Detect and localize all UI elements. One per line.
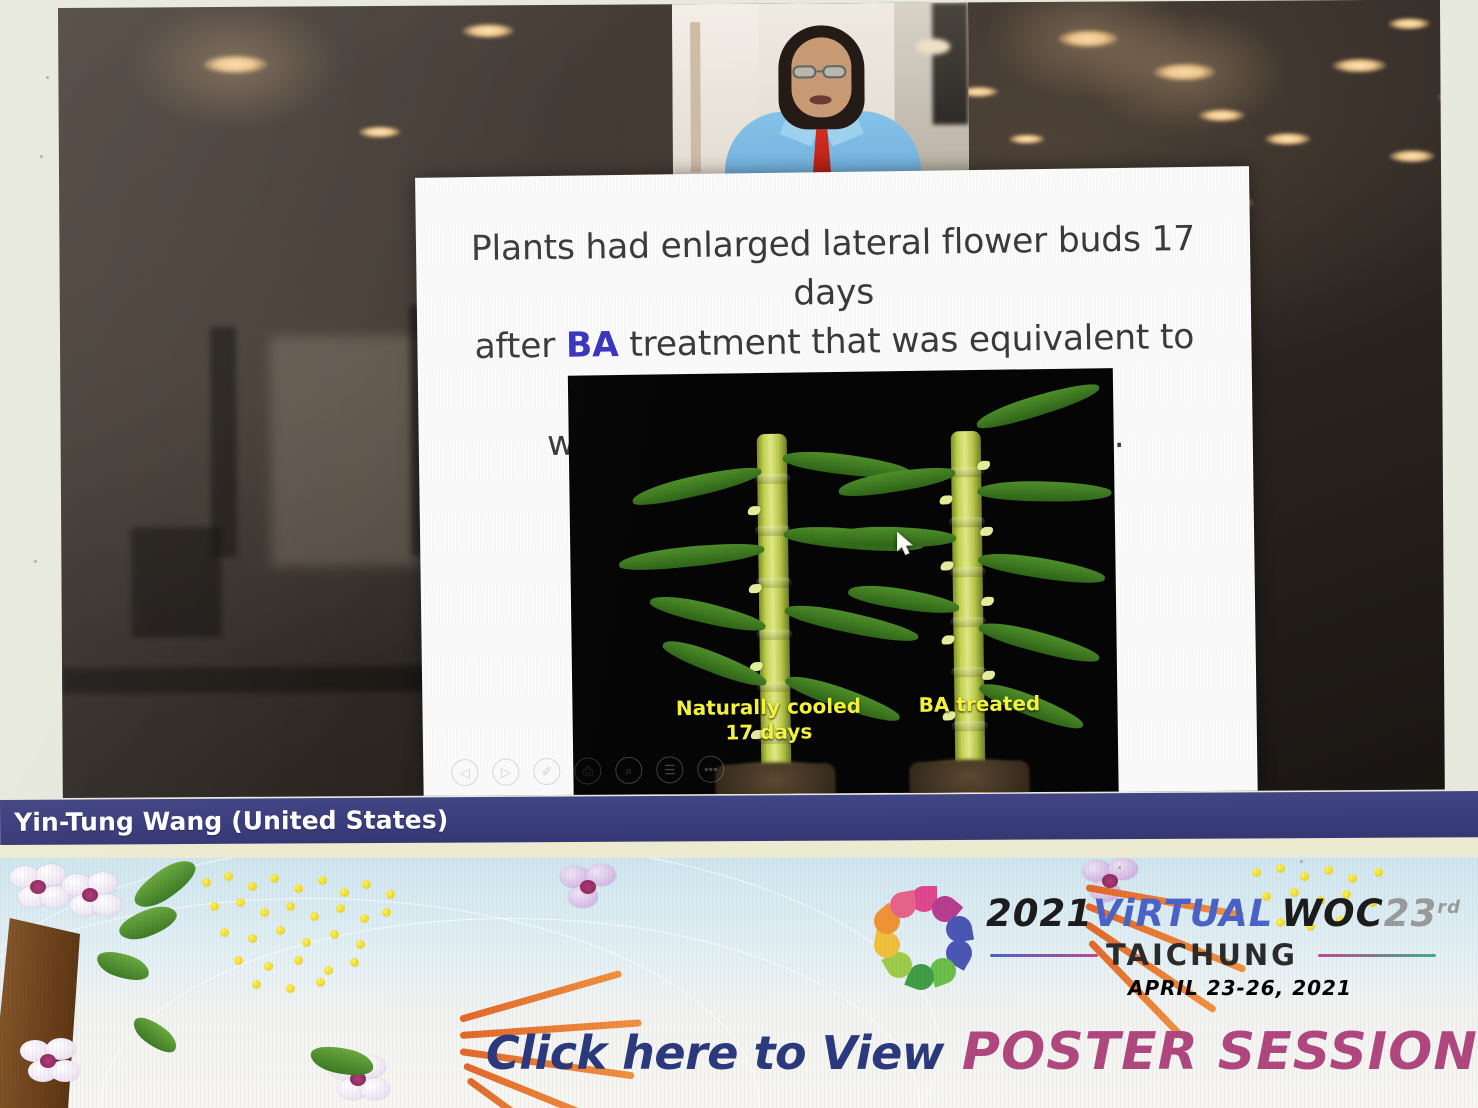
dust-speck [40, 155, 43, 158]
brand-rule-left [990, 954, 1098, 957]
dust-speck [1118, 866, 1121, 869]
event-brand-lockup: 2021ViRTUALWOC23rd TAICHUNG APRIL 23-26,… [866, 876, 1466, 1004]
eyeglasses-right-lens [822, 65, 846, 78]
brand-year: 2021 [986, 892, 1093, 935]
orchid-leaf [977, 616, 1102, 668]
zoom-icon[interactable]: ⌕ [615, 757, 642, 784]
menu-icon[interactable]: ☰ [656, 756, 683, 783]
webcam-dark-corner [932, 2, 969, 124]
label-naturally-cooled-line1: Naturally cooled [658, 693, 878, 721]
orchid-leaf [977, 480, 1111, 503]
ceiling-light-reflection [1153, 63, 1215, 81]
orchid-leaf [648, 590, 767, 636]
orchid-leaf [847, 580, 961, 618]
speaker-name: Yin-Tung Wang (United States) [14, 805, 448, 837]
orchid-illustration [20, 1038, 82, 1090]
eyeglasses-bridge [816, 70, 824, 72]
webcam-lamp [916, 39, 950, 55]
presentation-slide[interactable]: Plants had enlarged lateral flower buds … [415, 166, 1258, 798]
ceiling-light-reflection [1389, 150, 1435, 163]
orchid-pot [909, 760, 1030, 798]
webcam-door-frame [690, 22, 701, 172]
label-naturally-cooled: Naturally cooled 17 days [658, 693, 879, 746]
dust-speck [46, 76, 49, 79]
cta-lead-text: Click here to View [486, 1026, 944, 1080]
ceiling-light-reflection [203, 55, 267, 74]
brand-edition-number: 23 [1384, 892, 1438, 935]
ba-highlight: BA [566, 325, 619, 366]
orchid-leaf [618, 539, 765, 574]
more-options-icon[interactable]: ••• [697, 756, 724, 783]
orchid-comparison-photo: Naturally cooled 17 days BA treated [568, 368, 1119, 798]
box-silhouette [131, 527, 222, 638]
orchid-leaf [630, 461, 763, 510]
brand-title: 2021ViRTUALWOC23rd [986, 892, 1461, 935]
ceiling-light-reflection [462, 23, 514, 38]
orchid-leaf [974, 377, 1102, 433]
ceiling-light-reflection [1265, 132, 1311, 145]
brand-rule-right [1318, 954, 1436, 957]
ceiling-light-reflection [1439, 91, 1445, 102]
ceiling-light-reflection [1332, 58, 1386, 73]
orchid-pot [715, 763, 836, 798]
brand-dates: APRIL 23-26, 2021 [1128, 976, 1352, 1000]
dust-speck [1300, 860, 1303, 863]
orchid-illustration [560, 864, 622, 916]
brand-city: TAICHUNG [1106, 938, 1298, 972]
brand-woc: WOC [1281, 892, 1383, 935]
yellow-flower-spray [190, 872, 410, 992]
brand-virtual: ViRTUAL [1093, 892, 1273, 935]
ceiling-light-reflection [1388, 18, 1430, 30]
presenter-icon[interactable]: ⎙ [574, 757, 601, 784]
eyeglasses-left-lens [792, 65, 816, 78]
ceiling-light-reflection [359, 126, 401, 138]
presenter-mouth [810, 95, 832, 104]
poster-session-cta[interactable]: Click here to ViewPOSTER SESSION [486, 1022, 1478, 1082]
slide-line-1: Plants had enlarged lateral flower buds … [458, 215, 1209, 323]
post-silhouette [210, 327, 237, 557]
orchid-cane-right [951, 431, 986, 798]
orchid-illustration [62, 872, 124, 924]
woc-floral-ring-logo [872, 886, 976, 990]
presenter-webcam[interactable] [672, 2, 969, 186]
brand-edition-suffix: rd [1437, 897, 1461, 918]
cta-emphasis-text[interactable]: POSTER SESSION [962, 1022, 1478, 1082]
slide-line-2-before: after [474, 326, 566, 367]
dust-speck [34, 560, 37, 563]
pen-icon[interactable]: ✐ [533, 758, 560, 785]
label-ba-treated: BA treated [884, 691, 1074, 719]
shared-screen-video[interactable]: Plants had enlarged lateral flower buds … [58, 0, 1445, 798]
poster-session-banner[interactable]: 2021ViRTUALWOC23rd TAICHUNG APRIL 23-26,… [0, 858, 1478, 1108]
orchid-leaf [977, 548, 1107, 588]
wall-light-panel [270, 336, 421, 567]
play-icon[interactable]: ▷ [492, 758, 519, 785]
label-naturally-cooled-line2: 17 days [659, 718, 879, 746]
slide-toolbar[interactable]: ◁ ▷ ✐ ⎙ ⌕ ☰ ••• [451, 756, 724, 787]
ceiling-light-reflection [1009, 134, 1045, 144]
previous-icon[interactable]: ◁ [451, 759, 478, 786]
photo-of-screen: Plants had enlarged lateral flower buds … [0, 0, 1478, 1108]
screenshot-root: Plants had enlarged lateral flower buds … [0, 0, 1478, 1108]
